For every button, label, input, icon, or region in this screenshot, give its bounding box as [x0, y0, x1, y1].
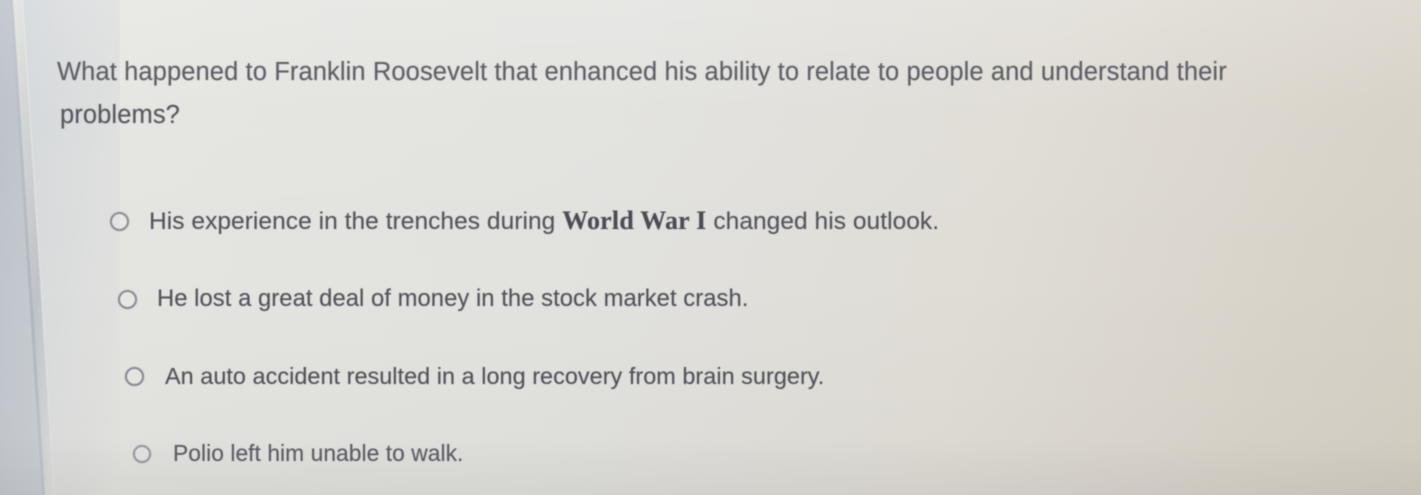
answer-option-2-label: He lost a great deal of money in the sto… [157, 285, 748, 313]
answer-option-3-label: An auto accident resulted in a long reco… [165, 363, 824, 390]
question-text-line-1: What happened to Franklin Roosevelt that… [57, 58, 1227, 87]
radio-unchecked-icon[interactable] [110, 212, 129, 231]
radio-unchecked-icon[interactable] [133, 445, 151, 463]
question-text-line-2: problems? [60, 101, 180, 130]
option-1-emphasis-world-war: World War [562, 206, 696, 235]
option-1-text-before: His experience in the trenches during [149, 208, 562, 235]
answer-option-2[interactable]: He lost a great deal of money in the sto… [118, 285, 748, 313]
radio-unchecked-icon[interactable] [125, 367, 144, 386]
option-1-text-after: changed his outlook. [706, 208, 939, 235]
question-content: What happened to Franklin Roosevelt that… [0, 0, 1421, 495]
option-1-emphasis-numeral: I [696, 206, 706, 235]
radio-unchecked-icon[interactable] [118, 290, 137, 309]
answer-option-4[interactable]: Polio left him unable to walk. [133, 440, 463, 467]
answer-option-1-label: His experience in the trenches during Wo… [149, 206, 939, 236]
quiz-screenshot: What happened to Franklin Roosevelt that… [0, 0, 1421, 495]
answer-option-3[interactable]: An auto accident resulted in a long reco… [125, 363, 824, 390]
answer-option-4-label: Polio left him unable to walk. [173, 440, 463, 467]
answer-option-1[interactable]: His experience in the trenches during Wo… [110, 206, 939, 236]
